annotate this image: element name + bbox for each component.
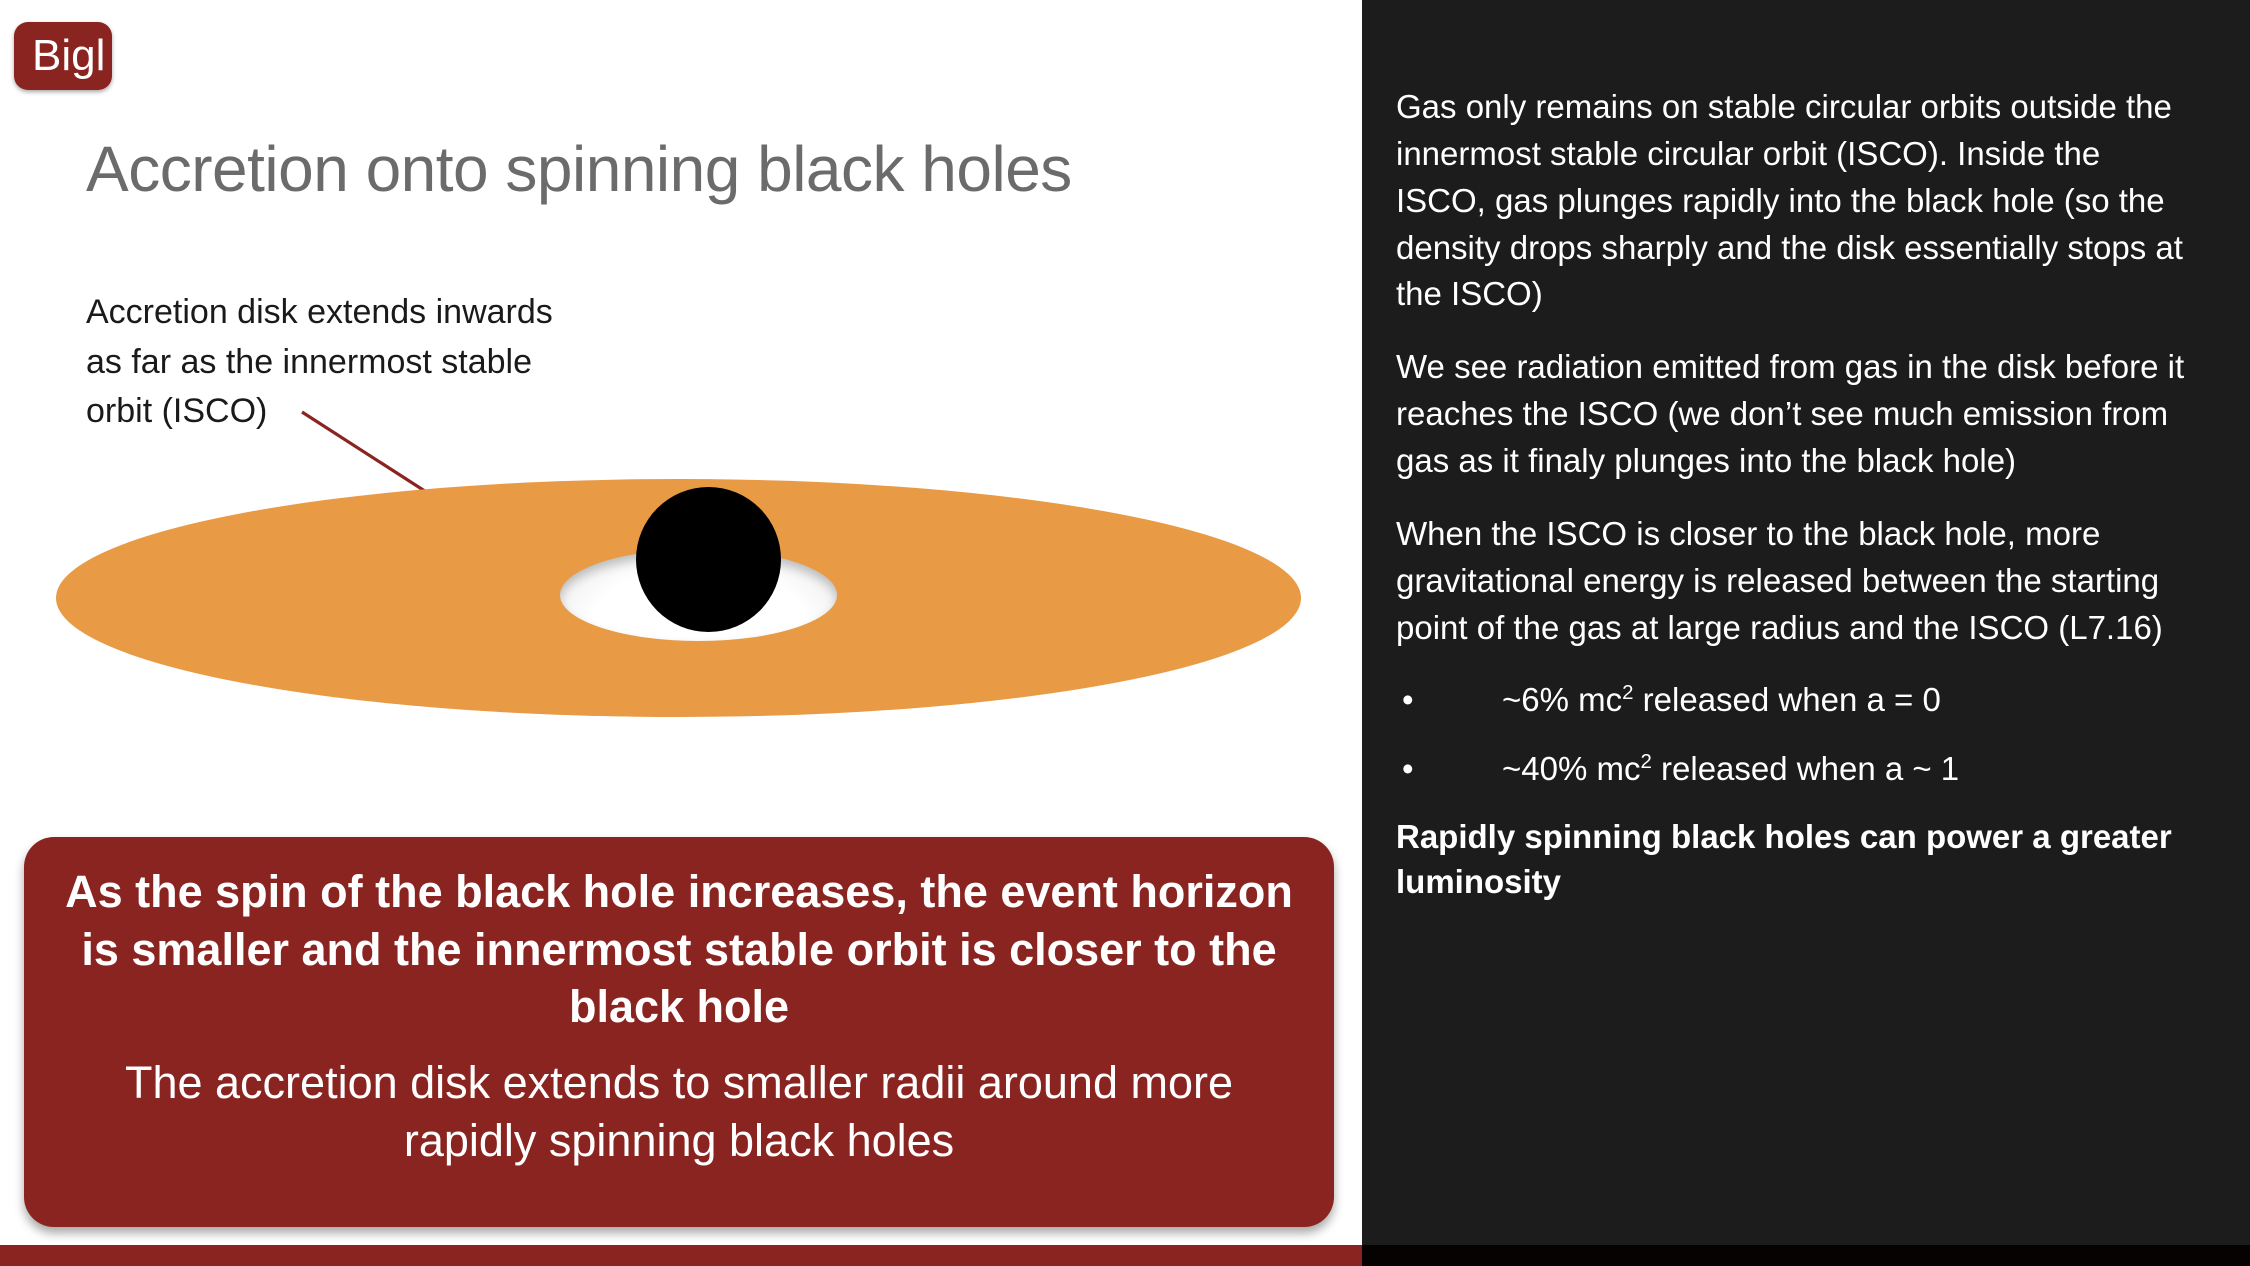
brand-badge-label: Bigl xyxy=(32,34,105,78)
bullet-prefix: ~40% mc xyxy=(1502,750,1640,787)
note-paragraph-3: When the ISCO is closer to the black hol… xyxy=(1396,511,2196,652)
note-paragraph-1: Gas only remains on stable circular orbi… xyxy=(1396,84,2196,318)
bullet-exponent: 2 xyxy=(1622,681,1633,704)
bullet-dot-icon: • xyxy=(1402,677,1414,723)
bottom-strip-left xyxy=(0,1245,1362,1266)
bullet-suffix: released when a = 0 xyxy=(1634,681,1941,718)
list-item: • ~6% mc2 released when a = 0 xyxy=(1396,677,2196,723)
slide-left-pane: Bigl Accretion onto spinning black holes… xyxy=(0,0,1362,1266)
slide-notes-pane: Gas only remains on stable circular orbi… xyxy=(1362,0,2250,1266)
annotation-line-2: as far as the innermost stable xyxy=(86,338,646,388)
brand-badge[interactable]: Bigl xyxy=(14,22,112,90)
bullet-prefix: ~6% mc xyxy=(1502,681,1622,718)
note-conclusion: Rapidly spinning black holes can power a… xyxy=(1396,814,2196,905)
bullet-dot-icon: • xyxy=(1402,746,1414,792)
page-title: Accretion onto spinning black holes xyxy=(86,132,1286,206)
callout-heading: As the spin of the black hole increases,… xyxy=(64,863,1294,1036)
annotation-line-1: Accretion disk extends inwards xyxy=(86,288,646,338)
energy-release-bullets: • ~6% mc2 released when a = 0 • ~40% mc2… xyxy=(1396,677,2196,791)
event-horizon xyxy=(636,487,781,632)
summary-callout: As the spin of the black hole increases,… xyxy=(24,837,1334,1227)
disk-annotation-text: Accretion disk extends inwards as far as… xyxy=(86,288,646,437)
note-paragraph-2: We see radiation emitted from gas in the… xyxy=(1396,344,2196,485)
accretion-disk-figure xyxy=(40,465,1340,785)
list-item: • ~40% mc2 released when a ~ 1 xyxy=(1396,746,2196,792)
bullet-suffix: released when a ~ 1 xyxy=(1652,750,1959,787)
callout-subtext: The accretion disk extends to smaller ra… xyxy=(64,1054,1294,1171)
bullet-exponent: 2 xyxy=(1640,750,1651,773)
bottom-strip-right xyxy=(1362,1245,2250,1266)
annotation-line-3: orbit (ISCO) xyxy=(86,387,646,437)
